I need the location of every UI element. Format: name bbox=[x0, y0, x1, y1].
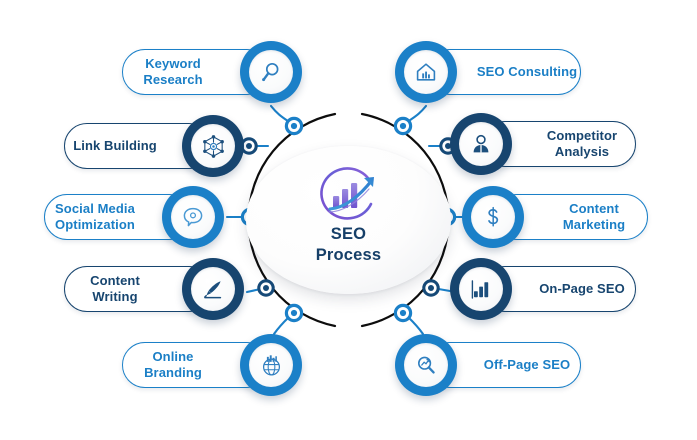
step-competitor-analysis[interactable]: Competitor Analysis bbox=[450, 113, 636, 175]
globe-city-icon bbox=[259, 353, 284, 378]
connector-seo-consulting bbox=[405, 106, 426, 124]
step-social-media-optimization[interactable]: Social Media Optimization bbox=[44, 186, 224, 248]
step-link-building-icon-bubble[interactable] bbox=[182, 115, 244, 177]
connector-keyword-research bbox=[271, 106, 292, 124]
step-seo-consulting-icon-bubble[interactable] bbox=[395, 41, 457, 103]
step-on-page-seo-icon-bubble[interactable] bbox=[450, 258, 512, 320]
step-content-writing[interactable]: Content Writing bbox=[64, 258, 244, 320]
hub-title: SEO Process bbox=[246, 224, 451, 266]
step-keyword-research[interactable]: Keyword Research bbox=[122, 41, 302, 103]
step-competitor-analysis-icon-bubble[interactable] bbox=[450, 113, 512, 175]
magnifier-chart-icon bbox=[414, 353, 438, 377]
hub-title-line2: Process bbox=[246, 245, 451, 266]
step-seo-consulting[interactable]: SEO Consulting bbox=[395, 41, 581, 103]
step-off-page-seo[interactable]: Off-Page SEO bbox=[395, 334, 581, 396]
network-nodes-icon bbox=[201, 134, 226, 159]
user-person-icon bbox=[469, 132, 493, 156]
house-icon bbox=[414, 60, 438, 84]
bar-chart-icon bbox=[469, 277, 493, 301]
connector-online-branding bbox=[274, 314, 292, 334]
step-on-page-seo[interactable]: On-Page SEO bbox=[450, 258, 636, 320]
step-keyword-research-icon-bubble[interactable] bbox=[240, 41, 302, 103]
step-link-building[interactable]: Link Building bbox=[64, 115, 244, 177]
step-content-writing-icon-bubble[interactable] bbox=[182, 258, 244, 320]
seo-process-diagram: SEO Process Keyword Research L bbox=[0, 0, 697, 440]
hub-title-line1: SEO bbox=[331, 225, 366, 243]
step-online-branding[interactable]: Online Branding bbox=[122, 334, 302, 396]
connector-off-page-seo bbox=[405, 314, 423, 334]
step-online-branding-icon-bubble[interactable] bbox=[240, 334, 302, 396]
chat-bubble-icon bbox=[181, 205, 205, 229]
seo-growth-chart-arrow-icon bbox=[314, 164, 384, 226]
step-social-media-optimization-icon-bubble[interactable] bbox=[162, 186, 224, 248]
step-off-page-seo-icon-bubble[interactable] bbox=[395, 334, 457, 396]
step-content-marketing-icon-bubble[interactable] bbox=[462, 186, 524, 248]
step-content-marketing[interactable]: Content Marketing bbox=[462, 186, 648, 248]
pen-nib-icon bbox=[201, 277, 225, 301]
magnifier-icon bbox=[259, 60, 283, 84]
center-hub: SEO Process bbox=[246, 146, 451, 294]
dollar-sign-icon bbox=[481, 205, 505, 229]
